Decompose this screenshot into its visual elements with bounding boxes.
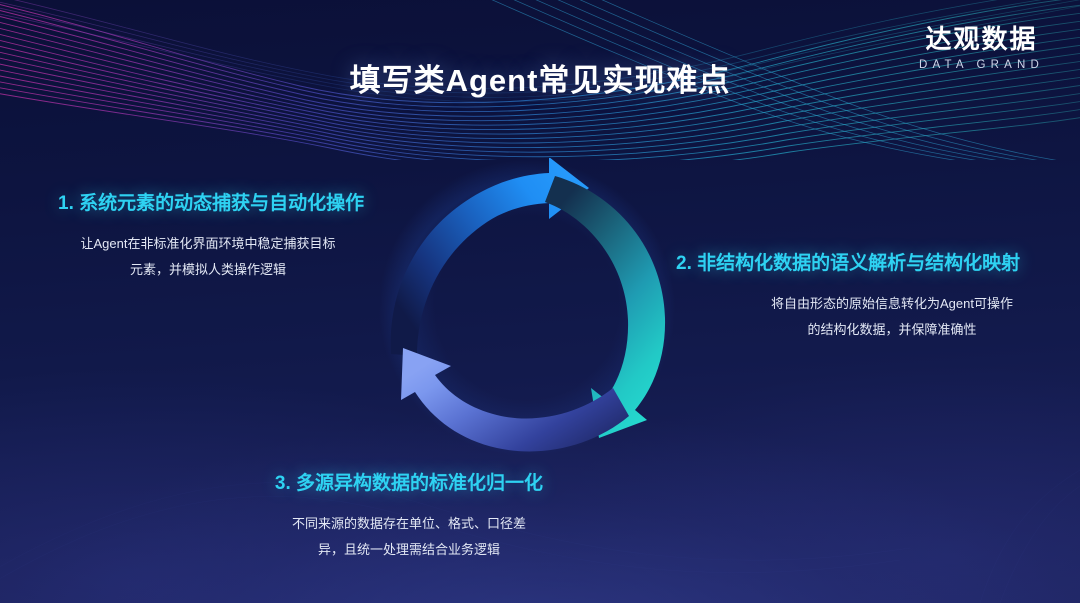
item-2-body-line-1: 将自由形态的原始信息转化为Agent可操作 bbox=[720, 291, 1064, 317]
item-1-body-line-2: 元素，并模拟人类操作逻辑 bbox=[36, 257, 380, 283]
item-2-body: 将自由形态的原始信息转化为Agent可操作 的结构化数据，并保障准确性 bbox=[664, 291, 1064, 343]
item-3-body-line-2: 异，且统一处理需结合业务逻辑 bbox=[228, 537, 590, 563]
cycle-diagram bbox=[377, 158, 677, 458]
item-2-heading: 2. 非结构化数据的语义解析与结构化映射 bbox=[664, 248, 1064, 275]
brand-name-cn: 达观数据 bbox=[919, 26, 1044, 52]
item-1-body: 让Agent在非标准化界面环境中稳定捕获目标 元素，并模拟人类操作逻辑 bbox=[36, 231, 416, 283]
page-title: 填写类Agent常见实现难点 bbox=[0, 55, 1080, 100]
item-1-body-line-1: 让Agent在非标准化界面环境中稳定捕获目标 bbox=[36, 231, 380, 257]
slide-root: 达观数据 DATA GRAND 填写类Agent常见实现难点 bbox=[0, 0, 1080, 603]
item-3-heading: 3. 多源异构数据的标准化归一化 bbox=[190, 468, 590, 495]
item-2-body-line-2: 的结构化数据，并保障准确性 bbox=[720, 317, 1064, 343]
item-1-heading: 1. 系统元素的动态捕获与自动化操作 bbox=[36, 188, 416, 215]
item-block-2: 2. 非结构化数据的语义解析与结构化映射 将自由形态的原始信息转化为Agent可… bbox=[664, 248, 1064, 343]
item-block-1: 1. 系统元素的动态捕获与自动化操作 让Agent在非标准化界面环境中稳定捕获目… bbox=[36, 188, 416, 283]
item-3-body-line-1: 不同来源的数据存在单位、格式、口径差 bbox=[228, 511, 590, 537]
item-block-3: 3. 多源异构数据的标准化归一化 不同来源的数据存在单位、格式、口径差 异，且统… bbox=[190, 468, 590, 563]
item-3-body: 不同来源的数据存在单位、格式、口径差 异，且统一处理需结合业务逻辑 bbox=[190, 511, 590, 563]
